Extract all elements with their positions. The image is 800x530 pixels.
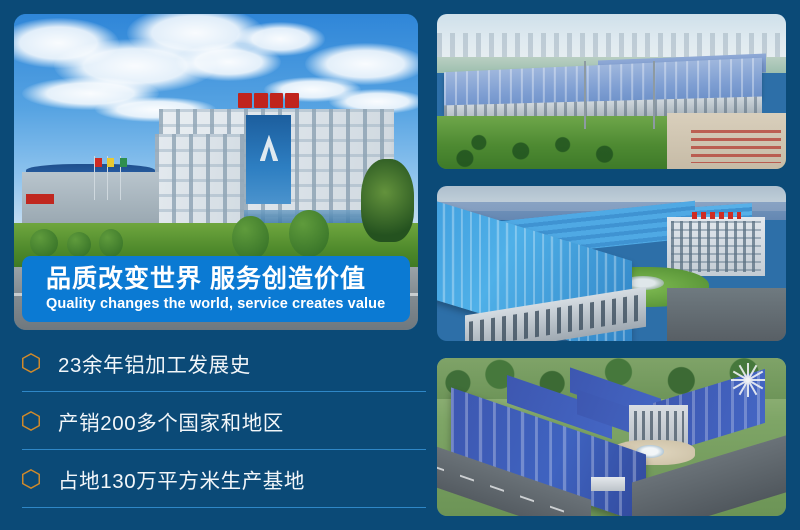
feature-label: 23余年铝加工发展史	[58, 348, 251, 378]
hero-photo-headquarters: 品质改变世界 服务创造价值 Quality changes the world,…	[14, 14, 418, 330]
glass-atrium-with-logo	[246, 115, 290, 203]
feature-divider	[22, 391, 426, 393]
tree-right	[361, 159, 414, 241]
feature-item-2[interactable]: 产销200多个国家和地区	[14, 398, 418, 456]
utility-pole	[584, 61, 586, 129]
right-column	[437, 14, 786, 516]
promo-banner-root: 品质改变世界 服务创造价值 Quality changes the world,…	[0, 0, 800, 530]
utility-pole	[653, 61, 655, 129]
feature-divider	[22, 449, 426, 451]
office-block	[667, 217, 765, 276]
tree	[232, 216, 268, 260]
cloud-icon	[236, 22, 325, 55]
feature-list: 23余年铝加工发展史 产销200多个国家和地区 占地	[14, 340, 418, 514]
feature-item-1[interactable]: 23余年铝加工发展史	[14, 340, 418, 398]
gatehouse	[591, 477, 626, 491]
storage-yard	[667, 113, 786, 169]
slogan-cn: 品质改变世界 服务创造价值	[46, 266, 410, 292]
hexagon-icon	[20, 410, 42, 432]
sun-burst-icon	[731, 363, 765, 397]
left-column: 品质改变世界 服务创造价值 Quality changes the world,…	[14, 14, 418, 516]
feature-label: 产销200多个国家和地区	[58, 406, 284, 436]
slogan-en: Quality changes the world, service creat…	[46, 296, 410, 312]
slogan-banner: 品质改变世界 服务创造价值 Quality changes the world,…	[22, 256, 410, 322]
road	[667, 288, 786, 341]
tree	[289, 210, 329, 257]
bush	[67, 232, 91, 257]
feature-divider	[22, 507, 426, 509]
feature-item-3[interactable]: 占地130万平方米生产基地	[14, 456, 418, 514]
hexagon-icon	[20, 468, 42, 490]
flagpoles	[91, 156, 127, 200]
feature-label: 占地130万平方米生产基地	[58, 464, 305, 494]
building-sign-text	[228, 91, 309, 110]
gallery-photo-3	[437, 358, 786, 516]
red-sign	[26, 194, 54, 203]
gallery-photo-1	[437, 14, 786, 169]
rooftop-red-characters	[692, 212, 741, 218]
hexagon-icon	[20, 352, 42, 374]
gallery-photo-2	[437, 186, 786, 341]
